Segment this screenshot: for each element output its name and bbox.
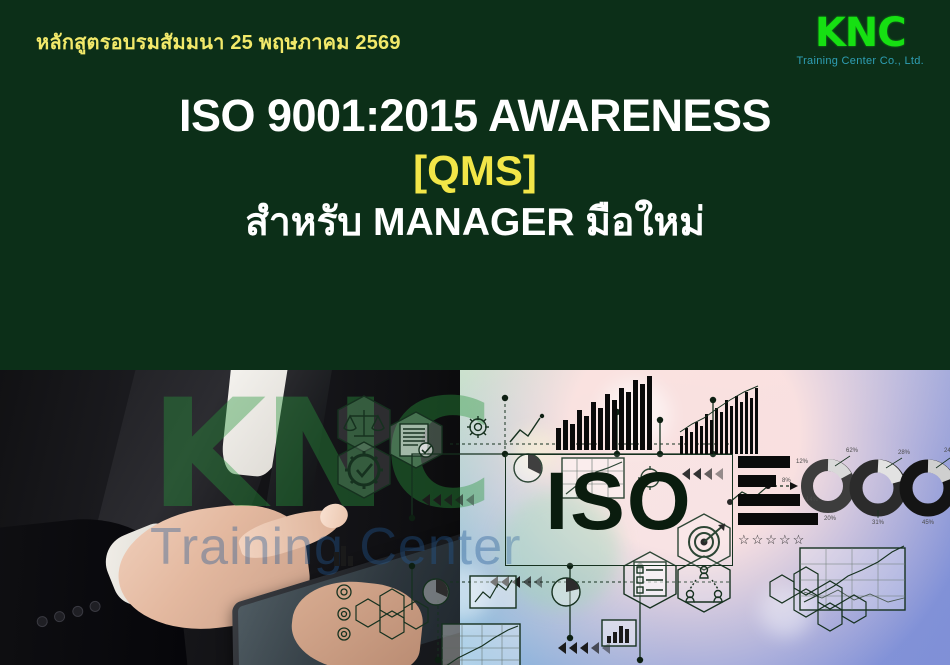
sparkline-icon (510, 414, 544, 442)
bar-segment (738, 475, 776, 487)
bar-label: 8% (782, 478, 791, 484)
donut-ring (906, 458, 950, 510)
course-date-line: หลักสูตรอบรมสัมมนา 25 พฤษภาคม 2569 (36, 26, 401, 58)
title-line-3: สำหรับ MANAGER มือใหม่ (0, 201, 950, 246)
horizontal-bar-chart: 12% 8% 14% 20% (738, 456, 836, 532)
donut-label: 28% (898, 450, 910, 456)
logo-subtitle-text: Training Center Co., Ltd. (796, 55, 924, 67)
iso-center-box: ISO (505, 454, 733, 566)
bar-segment (738, 513, 818, 525)
iso-infographic: ISO 12% 8% 14% 20% (330, 370, 950, 665)
donut-label: 45% (922, 520, 934, 526)
gear-icon (337, 585, 351, 640)
document-check-icon (390, 412, 442, 468)
column-histogram (556, 376, 652, 450)
gear-check-icon (338, 442, 390, 498)
knc-logo: KNC Training Center Co., Ltd. (796, 14, 924, 67)
sparkline-chart (470, 576, 516, 608)
donut-label: 31% (872, 520, 884, 526)
gear-icon (467, 416, 489, 438)
iso-label: ISO (506, 461, 732, 543)
growth-trend-grid (800, 546, 905, 610)
donut-label: 62% (846, 448, 858, 454)
bar-segment (738, 456, 790, 468)
bar-chart-icon (602, 620, 636, 646)
sleeve-button (35, 615, 49, 629)
dense-histogram (680, 388, 758, 454)
sleeve-button (89, 600, 103, 614)
sleeve-button (53, 610, 67, 624)
bar-label: 12% (796, 459, 808, 465)
page-title: ISO 9001:2015 AWARENESS [QMS] สำหรับ MAN… (0, 92, 950, 246)
donut-label: 24% (944, 448, 950, 454)
honeycomb-icon (356, 589, 428, 639)
chevron-left-arrows-icon (422, 494, 474, 506)
sleeve-button (71, 605, 85, 619)
bar-label: 20% (824, 516, 836, 522)
poster-root: หลักสูตรอบรมสัมมนา 25 พฤษภาคม 2569 KNC T… (0, 0, 950, 665)
donut-ring (856, 458, 902, 518)
pie-chart-icon (423, 579, 449, 605)
scatter-grid-chart (442, 624, 520, 665)
header-band: หลักสูตรอบรมสัมมนา 25 พฤษภาคม 2569 KNC T… (0, 0, 950, 370)
bar-label: 14% (806, 497, 818, 503)
title-line-1: ISO 9001:2015 AWARENESS (0, 92, 950, 139)
title-line-2-qms: [QMS] (0, 149, 950, 193)
star-rating: ☆☆☆☆☆ (738, 532, 806, 548)
pie-chart-icon (552, 578, 580, 606)
logo-mark-text: KNC (796, 14, 924, 52)
hero-photo: KNC Training Center (0, 370, 950, 665)
bar-chart-icon (334, 546, 353, 566)
bar-segment (738, 494, 800, 506)
